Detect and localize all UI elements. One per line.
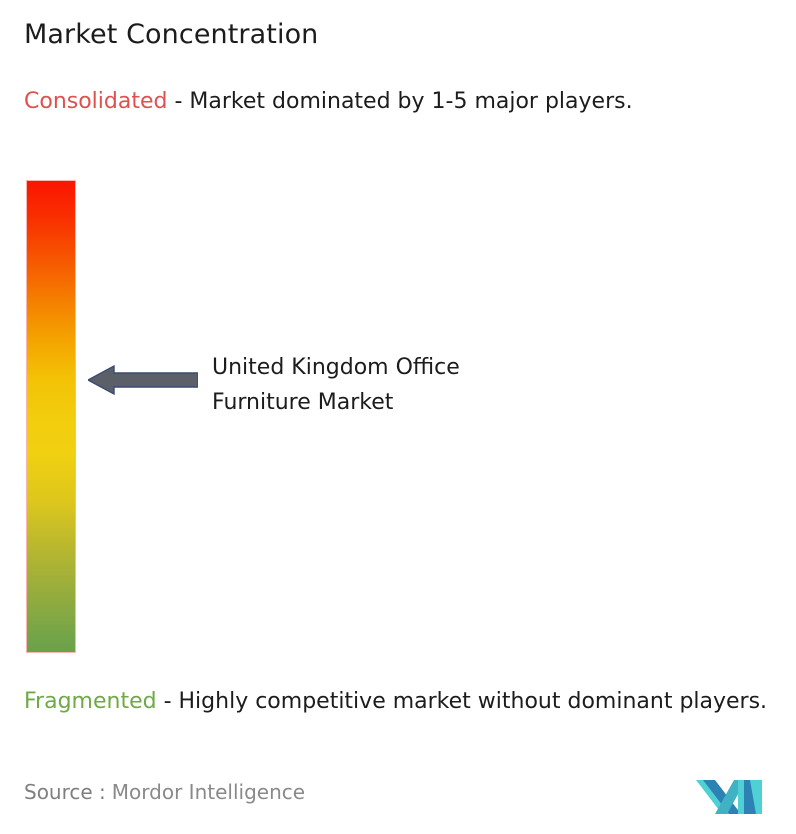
source-label: Source :: [24, 780, 106, 804]
page-title: Market Concentration: [24, 18, 318, 52]
concentration-gradient-bar: [26, 180, 76, 653]
source-attribution: Source :Mordor Intelligence: [24, 779, 305, 805]
legend-fragmented: Fragmented - Highly competitive market w…: [24, 686, 780, 718]
market-position-label: United Kingdom Office Furniture Market: [212, 350, 612, 420]
market-position-label-line1: United Kingdom Office: [212, 350, 612, 385]
legend-consolidated: Consolidated - Market dominated by 1-5 m…: [24, 86, 780, 118]
legend-description-consolidated: - Market dominated by 1-5 major players.: [167, 89, 632, 114]
legend-key-fragmented: Fragmented: [24, 689, 157, 714]
source-name: Mordor Intelligence: [106, 780, 305, 804]
market-position-arrow-icon: [88, 362, 198, 398]
market-concentration-infographic: Market Concentration Consolidated - Mark…: [0, 0, 796, 834]
market-position-label-line2: Furniture Market: [212, 385, 612, 420]
legend-description-fragmented: - Highly competitive market without domi…: [157, 689, 767, 714]
legend-key-consolidated: Consolidated: [24, 89, 167, 114]
mordor-intelligence-logo-icon: [694, 768, 770, 816]
